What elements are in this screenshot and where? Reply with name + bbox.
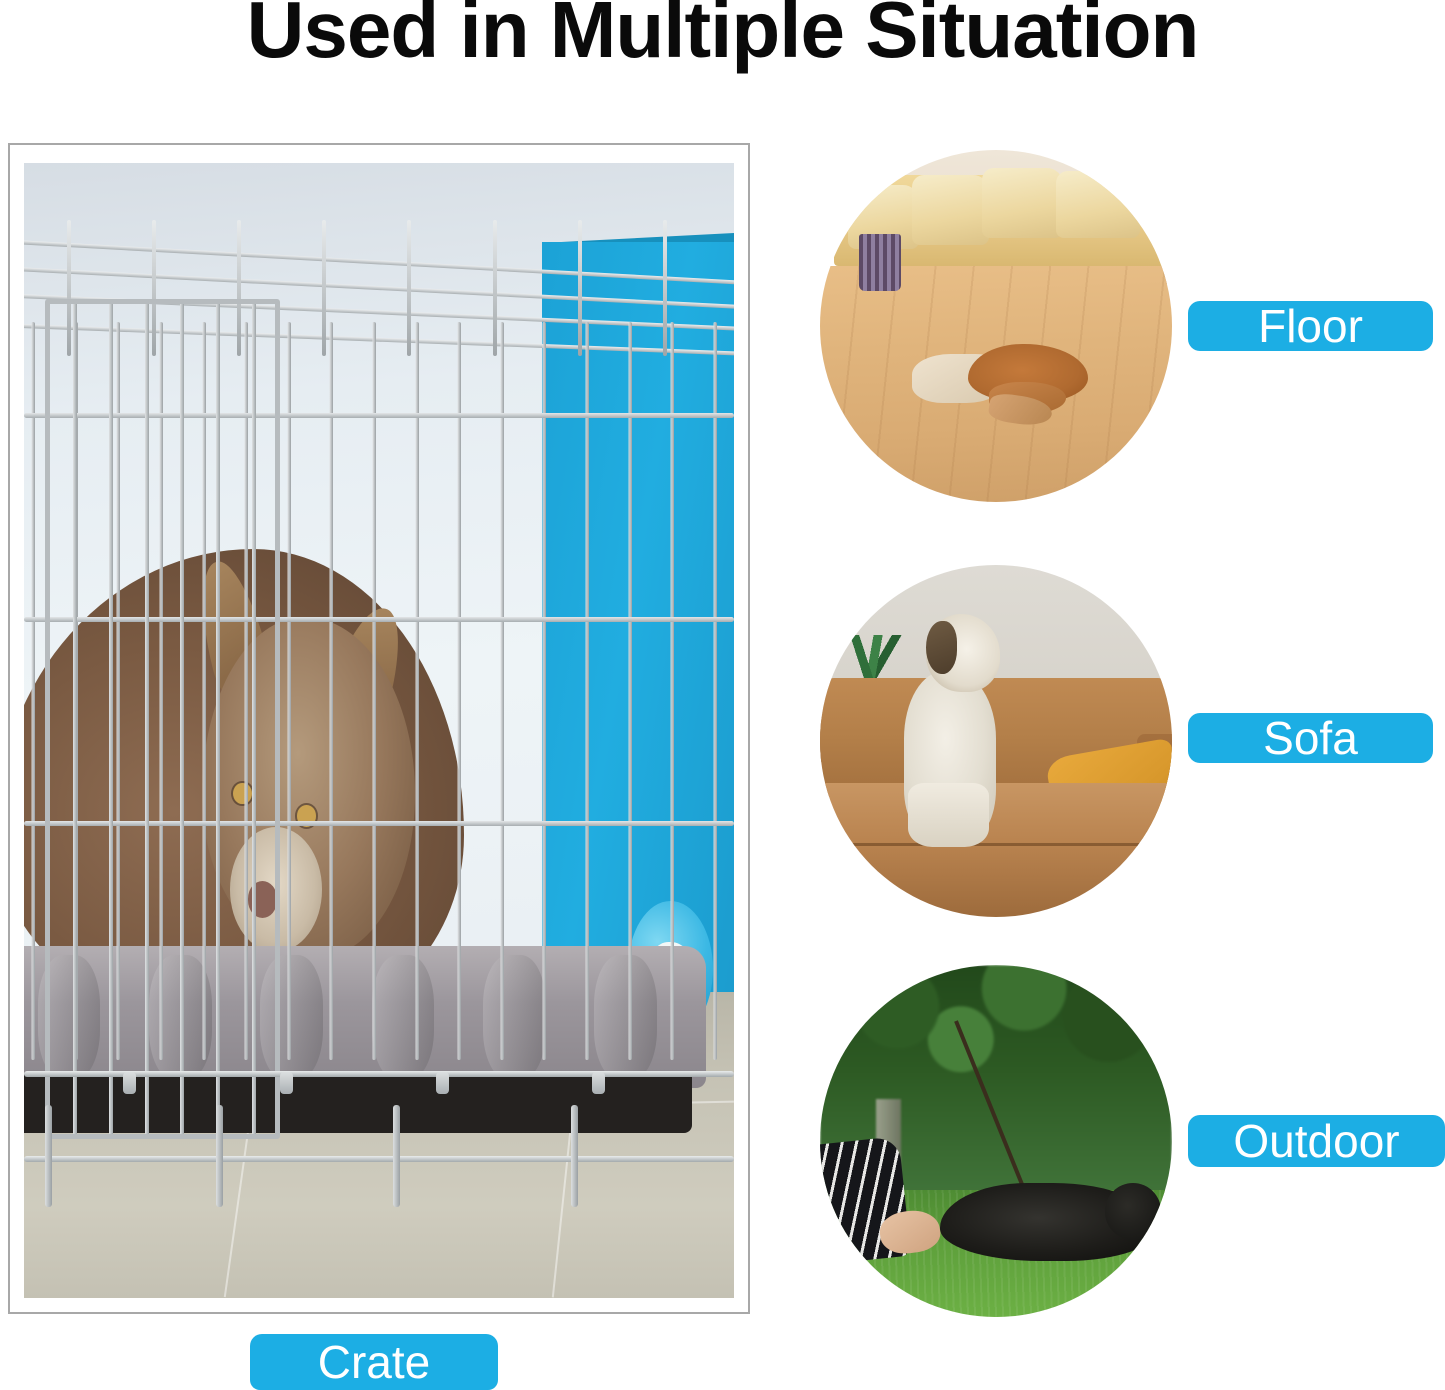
bed-tuft: [594, 955, 657, 1080]
scene-label-outdoor: Outdoor: [1188, 1115, 1445, 1167]
scene-label-crate: Crate: [250, 1334, 498, 1390]
sofa-seam: [820, 843, 1172, 846]
scene-image-floor: [820, 150, 1172, 502]
dog-eye-left: [233, 783, 251, 805]
dog-nose: [248, 881, 278, 917]
leather-sofa-seat: [820, 783, 1172, 917]
sofa-cushion: [1056, 171, 1140, 238]
white-curly-dog-ear: [926, 621, 958, 674]
waste-bin: [859, 234, 901, 290]
page-title: Used in Multiple Situation: [0, 0, 1445, 74]
bed-tuft: [483, 955, 546, 1080]
bed-tuft: [372, 955, 435, 1080]
dog-snout: [230, 827, 322, 952]
black-dog-head: [1105, 1183, 1161, 1239]
bed-tuft: [149, 955, 212, 1080]
scene-image-sofa: [820, 565, 1172, 917]
bed-tuft: [38, 955, 101, 1080]
sofa-cushion: [982, 168, 1063, 238]
grey-plush-pet-bed: [24, 946, 706, 1088]
bed-tuft: [260, 955, 323, 1080]
scene-label-sofa: Sofa: [1188, 713, 1433, 763]
sofa-cushion: [912, 175, 989, 245]
scene-label-floor: Floor: [1188, 301, 1433, 351]
dog-eye-right: [297, 805, 315, 827]
main-photo-frame: [8, 143, 750, 1314]
scene-image-outdoor: [820, 965, 1172, 1317]
white-curly-dog-legs: [908, 783, 989, 846]
crate-photo: [24, 163, 734, 1298]
tile-grout-line: [224, 1109, 252, 1297]
